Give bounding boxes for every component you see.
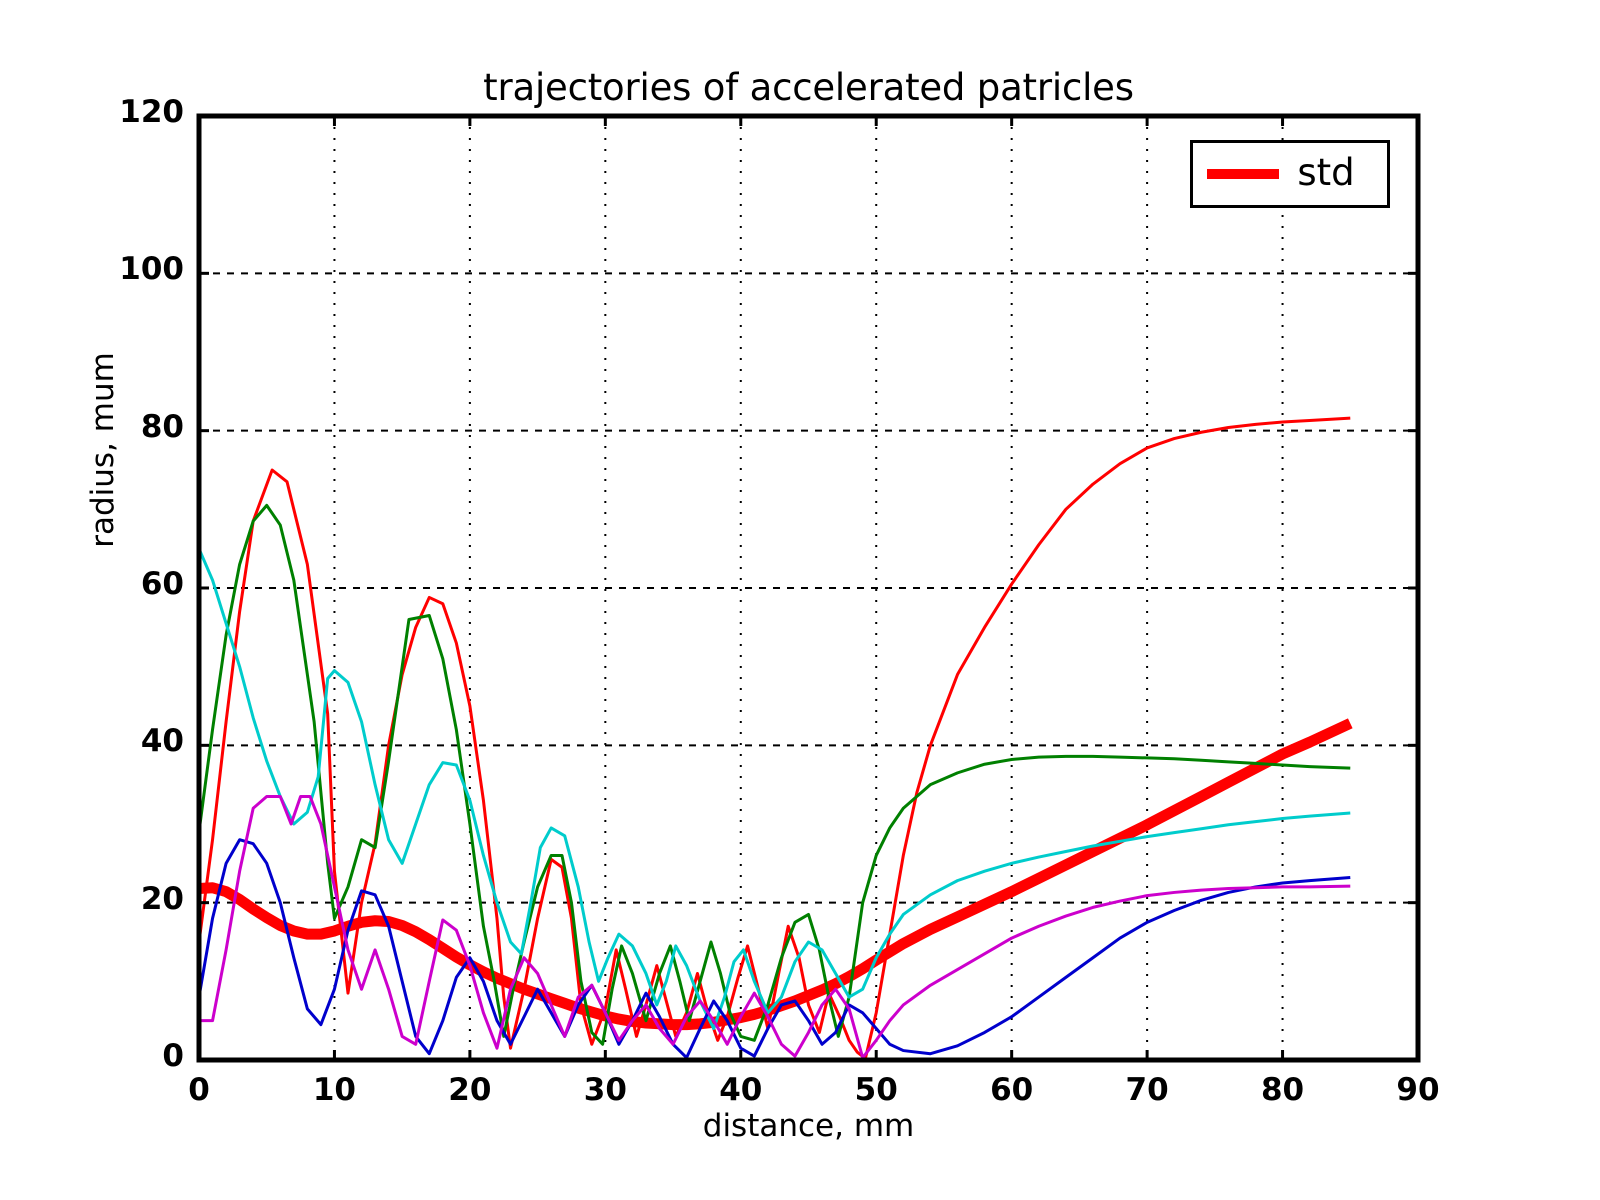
x-tick-label: 70 xyxy=(1107,1072,1187,1108)
y-tick-label: 80 xyxy=(89,409,184,445)
x-axis-label: distance, mm xyxy=(199,1108,1418,1144)
chart-title: trajectories of accelerated patricles xyxy=(199,66,1418,109)
x-tick-label: 80 xyxy=(1243,1072,1323,1108)
figure-canvas: trajectories of accelerated patricles di… xyxy=(0,0,1600,1200)
y-tick-label: 60 xyxy=(89,566,184,602)
legend-swatch-std xyxy=(1207,169,1279,179)
x-tick-label: 50 xyxy=(836,1072,916,1108)
y-tick-label: 40 xyxy=(89,723,184,759)
x-tick-label: 20 xyxy=(430,1072,510,1108)
x-tick-label: 60 xyxy=(972,1072,1052,1108)
y-tick-label: 120 xyxy=(89,94,184,130)
y-tick-label: 20 xyxy=(89,881,184,917)
series-layer xyxy=(199,418,1350,1058)
y-axis-label: radius, mum xyxy=(85,290,121,610)
legend-label-std: std xyxy=(1279,154,1373,195)
x-tick-label: 10 xyxy=(294,1072,374,1108)
y-tick-label: 100 xyxy=(89,251,184,287)
y-tick-label: 0 xyxy=(89,1038,184,1074)
x-tick-label: 90 xyxy=(1378,1072,1458,1108)
x-tick-label: 40 xyxy=(701,1072,781,1108)
x-tick-label: 30 xyxy=(565,1072,645,1108)
x-tick-label: 0 xyxy=(159,1072,239,1108)
series-trajectory_blue xyxy=(199,840,1350,1058)
legend: std xyxy=(1190,140,1390,208)
